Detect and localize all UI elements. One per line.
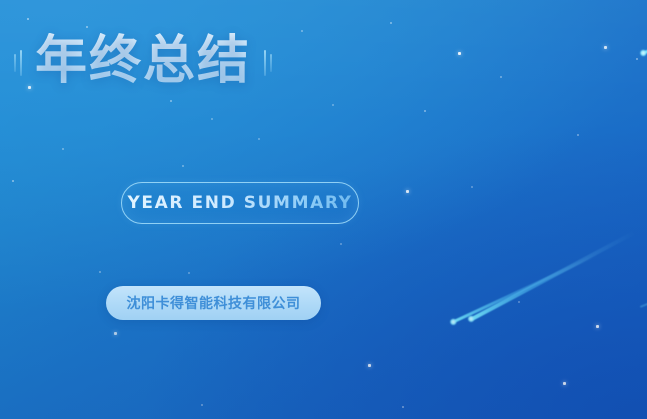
- star-dot: [402, 406, 404, 408]
- page-title: 年终总结: [31, 33, 255, 93]
- star-dot: [563, 382, 566, 385]
- tick-mark-icon: [270, 54, 272, 72]
- star-dot: [258, 138, 260, 140]
- year-end-summary-label: YEAR END SUMMARY: [127, 193, 352, 213]
- star-dot: [170, 100, 172, 102]
- star-dot: [424, 110, 426, 112]
- star-dot: [99, 271, 101, 273]
- tick-mark-icon: [14, 54, 16, 72]
- star-dot: [577, 134, 579, 136]
- star-dot: [86, 26, 88, 28]
- star-dot: [188, 272, 190, 274]
- title-decoration-right: [264, 50, 272, 76]
- star-dot: [301, 30, 303, 32]
- tick-mark-icon: [264, 50, 266, 76]
- star-dot: [27, 18, 29, 20]
- star-dot: [201, 404, 203, 406]
- star-dot: [114, 332, 117, 335]
- tick-mark-icon: [20, 50, 22, 76]
- title-block: 年终总结: [14, 33, 272, 93]
- meteor-head-glow: [639, 49, 647, 58]
- meteor-streak: [641, 0, 647, 55]
- star-dot: [471, 186, 473, 188]
- company-name-badge: 沈阳卡得智能科技有限公司: [106, 286, 321, 320]
- meteor-streak: [451, 254, 597, 325]
- meteor-head-glow: [449, 317, 458, 326]
- star-dot: [596, 325, 599, 328]
- presentation-cover-slide: 年终总结 YEAR END SUMMARY 沈阳卡得智能科技有限公司: [0, 0, 647, 419]
- star-dot: [500, 76, 502, 78]
- star-dot: [368, 364, 371, 367]
- title-decoration-left: [14, 50, 22, 76]
- star-dot: [12, 180, 14, 182]
- star-dot: [636, 58, 638, 60]
- star-dot: [604, 46, 607, 49]
- star-dot: [332, 104, 334, 106]
- star-dot: [340, 243, 342, 245]
- star-dot: [406, 190, 409, 193]
- star-dot: [390, 22, 392, 24]
- meteor-streak: [640, 220, 647, 308]
- star-dot: [458, 52, 461, 55]
- star-dot: [211, 118, 213, 120]
- company-name-label: 沈阳卡得智能科技有限公司: [127, 293, 301, 313]
- star-dot: [182, 165, 184, 167]
- star-dot: [62, 148, 64, 150]
- star-dot: [518, 301, 520, 303]
- year-end-summary-pill: YEAR END SUMMARY: [121, 182, 359, 224]
